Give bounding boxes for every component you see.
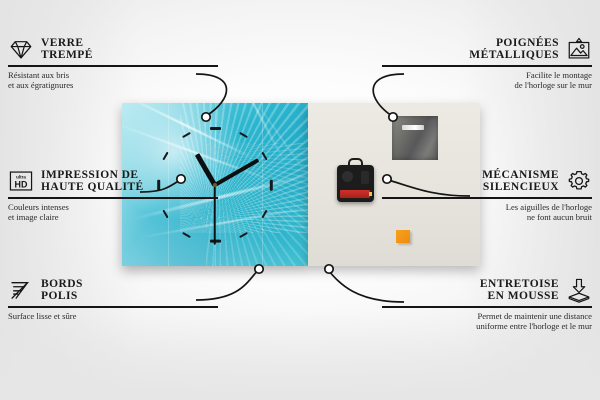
callout-rule	[8, 65, 218, 67]
polished-edges-icon	[8, 277, 34, 303]
clock-tick	[262, 152, 268, 161]
foam-spacer	[396, 230, 410, 243]
callout-subtitle: Surface lisse et sûre	[8, 311, 218, 321]
clock-tick	[262, 209, 268, 218]
callout-subtitle: Permet de maintenir une distance uniform…	[382, 311, 592, 332]
clock-tick	[239, 132, 248, 138]
callout-rule	[382, 197, 592, 199]
callout-header: ENTRETOISE EN MOUSSE	[382, 277, 592, 303]
callout-subtitle: Les aiguilles de l'horloge ne font aucun…	[382, 202, 592, 223]
callout-header: BORDS POLIS	[8, 277, 218, 303]
callout-title: VERRE TREMPÉ	[41, 37, 93, 62]
mechanism-hanger-loop	[348, 158, 363, 167]
clock-tick	[270, 179, 273, 190]
callout-rule	[382, 65, 592, 67]
mechanism-dial	[342, 171, 353, 182]
callout-title: IMPRESSION DE HAUTE QUALITÉ	[41, 169, 144, 194]
foam-spacer-icon	[566, 277, 592, 303]
callout-title: ENTRETOISE EN MOUSSE	[480, 278, 559, 303]
connector-dot-entretoise	[325, 265, 333, 273]
mechanism-switch	[361, 171, 369, 184]
clock-tick	[239, 232, 248, 238]
callout-header: POIGNÉES MÉTALLIQUES	[382, 36, 592, 62]
callout-bords-polis: BORDS POLIS Surface lisse et sûre	[8, 277, 218, 321]
callout-impression-haute-qualite: ultra HD IMPRESSION DE HAUTE QUALITÉ Cou…	[8, 168, 218, 222]
clock-tick	[182, 132, 191, 138]
callout-header: MÉCANISME SILENCIEUX	[382, 168, 592, 194]
callout-subtitle: Résistant aux bris et aux égratignures	[8, 70, 218, 91]
callout-rule	[8, 197, 218, 199]
battery-terminal	[369, 192, 372, 196]
callout-verre-trempe: VERRE TREMPÉ Résistant aux bris et aux é…	[8, 36, 218, 90]
clock-tick	[210, 127, 221, 130]
ultra-hd-icon-large-text: HD	[15, 180, 28, 190]
ultra-hd-icon: ultra HD	[8, 168, 34, 194]
callout-header: VERRE TREMPÉ	[8, 36, 218, 62]
connector-dot-bords	[255, 265, 263, 273]
callout-rule	[8, 306, 218, 308]
gear-icon	[566, 168, 592, 194]
clock-minute-hand	[214, 158, 259, 187]
callout-rule	[382, 306, 592, 308]
callout-title: POIGNÉES MÉTALLIQUES	[469, 37, 559, 62]
hanger-slot	[402, 125, 424, 130]
callout-poignees-metalliques: POIGNÉES MÉTALLIQUES Facilite le montage…	[382, 36, 592, 90]
callout-header: ultra HD IMPRESSION DE HAUTE QUALITÉ	[8, 168, 218, 194]
battery	[340, 190, 370, 198]
hanging-frame-icon	[566, 36, 592, 62]
callout-title: BORDS POLIS	[41, 278, 83, 303]
diamond-icon	[8, 36, 34, 62]
metal-hanger-plate	[392, 116, 438, 160]
clock-tick	[182, 232, 191, 238]
clock-tick	[162, 152, 168, 161]
callout-subtitle: Couleurs intenses et image claire	[8, 202, 218, 223]
callout-title: MÉCANISME SILENCIEUX	[482, 169, 559, 194]
callout-subtitle: Facilite le montage de l'horloge sur le …	[382, 70, 592, 91]
clock-mechanism	[337, 165, 374, 202]
callout-mecanisme-silencieux: MÉCANISME SILENCIEUX Les aiguilles de l'…	[382, 168, 592, 222]
callout-entretoise-en-mousse: ENTRETOISE EN MOUSSE Permet de maintenir…	[382, 277, 592, 331]
infographic-canvas: VERRE TREMPÉ Résistant aux bris et aux é…	[0, 0, 600, 400]
